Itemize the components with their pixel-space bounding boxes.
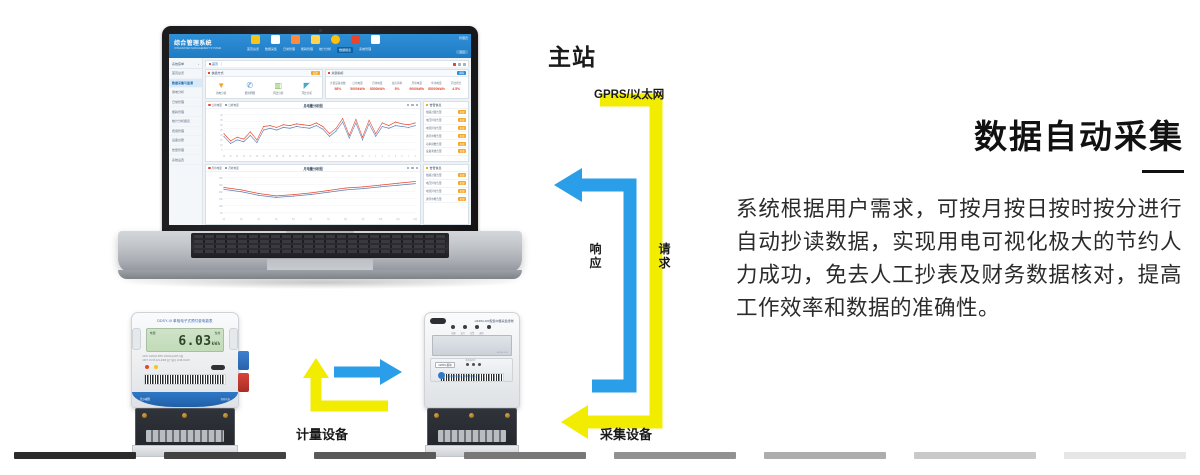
kpi-title-wrap: 关键指标	[328, 71, 344, 75]
title-underline	[1142, 170, 1184, 173]
trend-icon: ◤	[294, 81, 320, 90]
meter-lcd-value: 6.03	[178, 334, 211, 349]
svg-text:12月: 12月	[413, 217, 417, 222]
dot-label-2: 告警	[470, 331, 474, 335]
refresh-icon[interactable]	[411, 167, 414, 170]
svg-text:2月: 2月	[240, 217, 243, 222]
svg-text:25: 25	[220, 129, 223, 132]
svg-text:12: 12	[236, 156, 239, 158]
svg-text:16: 16	[263, 156, 266, 158]
svg-text:11: 11	[230, 156, 233, 158]
quick-item-0[interactable]: ▼ 用电分析	[208, 81, 234, 95]
svg-text:20: 20	[220, 134, 223, 137]
app-sidebar[interactable]: 系统菜单 ‹ 首页总览 数据采集与监测 用电分析 日常管理 能耗管理 统计分析报…	[169, 58, 203, 225]
svg-text:30: 30	[220, 124, 223, 127]
terminal-screws	[434, 413, 510, 418]
chart-daily-title: 总电量分析图	[303, 103, 322, 108]
meter-lcd-left-label: 电量	[150, 331, 156, 335]
meter-spec-text: 220V 10(60)A 50Hz 1600imp/kWh 1级 GB/T 17…	[142, 355, 227, 362]
laptop-screen: 综合管理系统 INTEGRATED MANAGEMENT SYSTEM 首页总览	[169, 34, 471, 225]
alarm-row-3-name: 通讯中断告警	[426, 134, 442, 138]
sidebar-item-2[interactable]: 用电分析	[169, 88, 202, 98]
master-station-label: 主站	[548, 38, 596, 72]
app-nav[interactable]: 首页总览 数据采集 日常管理 能耗管理 统计分析 数据报表 系统管理	[247, 47, 371, 53]
svg-text:250: 250	[219, 184, 223, 187]
nav-item-6[interactable]: 系统管理	[359, 47, 371, 53]
svg-text:31: 31	[361, 156, 364, 158]
bar-cell-1	[150, 452, 300, 459]
chart-daily-plot: 4035302520151051011121314151617181920212…	[206, 109, 420, 161]
terminal-title: HKDM-100型集中器采集终端	[475, 319, 514, 323]
meter-brand-right: 智能电表	[221, 397, 231, 401]
alarm2-row-1-badge[interactable]: 处理	[458, 181, 466, 185]
gprs-module-label: GPRS 模块	[435, 362, 454, 368]
svg-text:10: 10	[223, 156, 226, 158]
power-led-icon	[451, 325, 455, 329]
gradient-bar-strip	[0, 452, 1200, 459]
svg-text:17: 17	[269, 156, 272, 158]
tab-home-label: 首页	[212, 62, 218, 66]
text-column: 数据自动采集 系统根据用户需求，可按月按日按时按分进行自动抄读数据，实现用电可视…	[736, 118, 1184, 325]
svg-text:200: 200	[219, 191, 223, 194]
collect-device-label: 采集设备	[600, 424, 652, 443]
kpi-badge[interactable]: 详情	[457, 71, 466, 75]
svg-text:25: 25	[322, 156, 325, 158]
collection-terminal-device: HKDM-100型集中器采集终端 电源 运行 告警 通讯 HKDM-100 GP…	[416, 312, 528, 457]
alarm2-row-1-name: 电压异常告警	[426, 181, 442, 185]
legend-item-1: 月峰电量	[225, 166, 239, 170]
meter-indicator-leds	[145, 365, 158, 369]
kpi-item-6: 同比增长 4.5%	[446, 81, 466, 91]
response-arrow-path	[580, 185, 630, 386]
kpi-items: 计量设备总数 98% 日用电量 5000kWh 月用电量	[326, 77, 468, 95]
svg-text:15: 15	[220, 139, 223, 142]
svg-text:11月: 11月	[396, 217, 400, 222]
kpi-item-4: 月用电量 9000kWh	[407, 81, 427, 91]
sidebar-item-1[interactable]: 数据采集与监测	[169, 79, 202, 89]
meter-spec-line-2: GB/T 17215.321-2008 出厂编号 2018-00125	[142, 359, 227, 362]
svg-text:50: 50	[220, 212, 223, 215]
svg-text:3月: 3月	[257, 217, 260, 222]
kpi-item-0-value: 98%	[328, 87, 348, 91]
chart-monthly-tools[interactable]	[407, 167, 419, 170]
svg-text:30: 30	[355, 156, 358, 158]
request-arrow-head	[561, 405, 588, 439]
chart-daily-header: 日用电量 日峰电量 总电量分析图	[206, 102, 420, 109]
alarm2-row-0-badge[interactable]: 处理	[458, 173, 466, 177]
svg-text:35: 35	[220, 119, 223, 122]
kpi-item-5-label: 年用电量	[427, 81, 447, 85]
bar-cell-0	[0, 452, 150, 459]
quick-item-1-label: 费用明细	[237, 91, 263, 95]
svg-text:7月: 7月	[327, 217, 330, 222]
nav-item-2[interactable]: 日常管理	[283, 47, 295, 53]
sidebar-item-0[interactable]: 首页总览	[169, 69, 202, 79]
sidebar-item-6[interactable]: 费用管理	[169, 127, 202, 137]
dot-label-0: 电源	[451, 331, 455, 335]
terminal-status-labels: 电源 运行 告警 通讯	[451, 331, 511, 335]
meter-terminal-screws	[142, 413, 229, 418]
meter-device-label: 计量设备	[296, 424, 348, 443]
alarm-row[interactable]: 通讯中断告警 处理	[424, 132, 468, 140]
alarm-row[interactable]: 线路过载告警 处理	[424, 172, 468, 180]
kpi-item-3: 总负荷率 5%	[387, 81, 407, 91]
alarm-row[interactable]: 设备离线告警 处理	[424, 148, 468, 156]
alarm-list-title-2: 告警信息	[430, 166, 442, 170]
terminal-module-panel: GPRS 模块 状态指示灯 长沙顺畅能源产业技术有限公司	[430, 358, 513, 382]
kpi-item-4-value: 9000kWh	[407, 87, 427, 91]
svg-text:4月: 4月	[275, 217, 278, 222]
legend-item-0: 月用电量	[208, 166, 222, 170]
kpi-item-2: 月用电量 8500kWh	[367, 81, 387, 91]
alarm-row[interactable]: 电压异常告警 处理	[424, 180, 468, 188]
bulb-icon[interactable]	[251, 35, 260, 44]
calendar-icon[interactable]	[291, 35, 300, 44]
kpi-item-5: 年用电量 85000kWh	[427, 81, 447, 91]
svg-text:9月: 9月	[362, 217, 365, 222]
terminal-contacts	[438, 430, 506, 442]
kpi-card: 关键指标 详情 计量设备总数 98%	[325, 69, 469, 99]
kpi-title: 关键指标	[332, 71, 344, 75]
export-icon[interactable]	[407, 104, 410, 107]
svg-text:100: 100	[219, 205, 223, 208]
svg-text:10月: 10月	[379, 217, 383, 222]
more-icon[interactable]	[463, 63, 466, 66]
alarm-row[interactable]: 线路过载告警 处理	[424, 109, 468, 117]
clock-icon[interactable]	[331, 35, 340, 44]
meter-terminal-block	[135, 408, 236, 449]
kpi-item-0-label: 计量设备总数	[328, 81, 348, 85]
alarm-row-4-name: 功率因数告警	[426, 142, 442, 146]
meter-lcd-display: 电量 当前 6.03kWh	[146, 328, 225, 352]
alarm-row[interactable]: 电压异常告警 处理	[424, 117, 468, 125]
gprs-dots-label: 状态指示灯	[466, 359, 476, 362]
chart-daily-tools[interactable]	[407, 104, 419, 107]
chart-row-daily: 日用电量 日峰电量 总电量分析图	[205, 101, 469, 162]
brand-logo-icon	[438, 372, 445, 379]
svg-text:24: 24	[315, 156, 318, 158]
terminal-wiring-block	[427, 408, 517, 449]
svg-text:7: 7	[408, 156, 410, 158]
kpi-item-1-label: 日用电量	[348, 81, 368, 85]
svg-text:5: 5	[221, 149, 223, 152]
warning-icon	[426, 167, 428, 169]
alarm-row-3-badge[interactable]: 处理	[458, 134, 466, 138]
chevron-left-icon[interactable]: ‹	[198, 62, 199, 66]
alarm-row-5-name: 设备离线告警	[426, 149, 442, 153]
kpi-item-2-label: 月用电量	[367, 81, 387, 85]
tab-bar[interactable]: 首页	[205, 60, 469, 67]
terminal-downlink-arrow-head	[380, 359, 402, 385]
app-content: 首页	[203, 58, 471, 225]
tab-dot-icon	[209, 63, 211, 65]
svg-text:27: 27	[335, 156, 338, 158]
svg-text:23: 23	[309, 156, 312, 158]
quick-access-items[interactable]: ▼ 用电分析 ✆ 费用明细 ▥ 同比分析	[206, 77, 322, 98]
chart-row-monthly: 月用电量 月峰电量 月电量分析图	[205, 164, 469, 225]
alarm2-row-2-badge[interactable]: 处理	[458, 189, 466, 193]
body-paragraph: 系统根据用户需求，可按月按日按时按分进行自动抄读数据，实现用电可视化极大的节约人…	[736, 193, 1184, 325]
kpi-item-4-label: 月用电量	[407, 81, 427, 85]
run-led-icon	[463, 325, 467, 329]
sidebar-item-5[interactable]: 统计分析报表	[169, 117, 202, 127]
page-title: 数据自动采集	[736, 118, 1184, 156]
list-icon[interactable]	[311, 35, 320, 44]
quick-item-2[interactable]: ▥ 同比分析	[265, 81, 291, 95]
gprs-status-dots	[466, 363, 481, 366]
refresh-icon[interactable]	[458, 63, 461, 66]
sidebar-header: 系统菜单 ‹	[169, 60, 202, 69]
legend-item-1-label: 日峰电量	[228, 103, 238, 107]
kpi-item-6-label: 同比增长	[446, 81, 466, 85]
quick-item-3[interactable]: ◤ 环比分析	[294, 81, 320, 95]
terminal-status-dots	[451, 325, 511, 329]
laptop-lid: 综合管理系统 INTEGRATED MANAGEMENT SYSTEM 首页总览	[162, 26, 478, 234]
legend-item-1: 日峰电量	[225, 103, 239, 107]
export-icon[interactable]	[407, 167, 410, 170]
svg-text:40: 40	[220, 114, 223, 117]
svg-text:300: 300	[219, 177, 223, 180]
svg-text:150: 150	[219, 198, 223, 201]
svg-text:26: 26	[329, 156, 332, 158]
dashboard-top-panels: 快捷方式 设置 ▼ 用电分析	[205, 69, 469, 99]
energy-meter-device: DDSY-III 单相电子式预付费电能表 电量 当前 6.03kWh 220V …	[122, 312, 248, 457]
svg-text:5月: 5月	[292, 217, 295, 222]
svg-text:28: 28	[342, 156, 345, 158]
svg-text:5: 5	[395, 156, 397, 158]
sidebar-item-3[interactable]: 日常管理	[169, 98, 202, 108]
alarm-row-1-badge[interactable]: 处理	[458, 118, 466, 122]
sidebar-item-4[interactable]: 能耗管理	[169, 107, 202, 117]
quick-item-3-label: 环比分析	[294, 91, 320, 95]
alarm-list-card-2: 告警信息 线路过载告警 处理 电压异常告警 处理	[423, 164, 469, 225]
meter-uplink-arrow-path	[316, 376, 388, 406]
app-logo-subtext: INTEGRATED MANAGEMENT SYSTEM	[174, 48, 221, 51]
terminal-lcd-mark: HKDM-100	[497, 352, 508, 354]
alarm-list-header-2: 告警信息	[424, 165, 468, 172]
meter-mount-right	[229, 328, 239, 350]
nav-item-4[interactable]: 统计分析	[319, 47, 331, 53]
laptop-front-edge	[118, 270, 522, 279]
response-label: 响应	[589, 242, 602, 270]
chart-icon: ▥	[265, 81, 291, 90]
alarm-row-1-name: 电压异常告警	[426, 118, 442, 122]
laptop-illustration: 综合管理系统 INTEGRATED MANAGEMENT SYSTEM 首页总览	[118, 26, 522, 298]
phone-icon: ✆	[237, 81, 263, 90]
bulb-icon: ▼	[208, 81, 234, 90]
bar-cell-6	[900, 452, 1050, 459]
kpi-item-1-value: 5000kWh	[348, 87, 368, 91]
meter-mount-left	[132, 328, 142, 350]
svg-text:1: 1	[369, 156, 371, 158]
chart-monthly-plot: 300250200150100501月2月3月4月5月6月7月8月9月10月11…	[206, 172, 420, 224]
meter-uplink-arrow-head	[303, 358, 329, 378]
square-marker-icon	[208, 72, 210, 74]
terminal-brand: 长沙顺畅能源产业技术有限公司	[438, 372, 506, 379]
chart-card-monthly: 月用电量 月峰电量 月电量分析图	[205, 164, 421, 225]
nav-item-5[interactable]: 数据报表	[337, 47, 353, 53]
grid-view-icon[interactable]	[453, 63, 456, 66]
settings-icon[interactable]	[371, 35, 380, 44]
device-link-arrows	[296, 358, 404, 420]
alarm2-row-3-badge[interactable]: 处理	[458, 197, 466, 201]
legend-item-0-label: 日用电量	[212, 103, 222, 107]
legend-item-0-label: 月用电量	[212, 166, 222, 170]
bar-cell-2	[300, 452, 450, 459]
app-user-area[interactable]: 管理员 退出	[456, 36, 468, 58]
svg-text:19: 19	[282, 156, 285, 158]
response-arrow-head	[554, 168, 582, 202]
legend-item-1-label: 月峰电量	[228, 166, 238, 170]
app-header: 综合管理系统 INTEGRATED MANAGEMENT SYSTEM 首页总览	[169, 34, 471, 58]
bar-cell-3	[450, 452, 600, 459]
svg-text:20: 20	[289, 156, 292, 158]
svg-text:1月: 1月	[223, 217, 226, 222]
meter-button[interactable]	[211, 365, 225, 370]
alarm2-row-0-name: 线路过载告警	[426, 173, 442, 177]
tab-tools[interactable]	[453, 63, 466, 66]
chart-monthly-legend: 月用电量 月峰电量	[208, 166, 239, 170]
infographic-canvas: 综合管理系统 INTEGRATED MANAGEMENT SYSTEM 首页总览	[0, 0, 1200, 475]
kpi-header: 关键指标 详情	[326, 70, 468, 77]
alarm-list-header: 告警信息	[424, 102, 468, 109]
meter-caption: DDSY-III 单相电子式预付费电能表	[140, 318, 229, 326]
alarm-row[interactable]: 电流异常告警 处理	[424, 188, 468, 196]
chart-card-daily: 日用电量 日峰电量 总电量分析图	[205, 101, 421, 162]
logout-button[interactable]: 退出	[456, 50, 468, 54]
alarm2-row-2-name: 电流异常告警	[426, 189, 442, 193]
meter-terminal-contacts	[146, 430, 225, 442]
svg-text:8月: 8月	[344, 217, 347, 222]
alarm-list-card: 告警信息 线路过载告警 处理 电压异常告警 处理	[423, 101, 469, 162]
meter-lcd-unit: kWh	[212, 341, 221, 346]
chart-monthly-header: 月用电量 月峰电量 月电量分析图	[206, 165, 420, 172]
chart-monthly-title: 月电量分析图	[303, 166, 322, 171]
dot-label-1: 运行	[461, 331, 465, 335]
svg-text:15: 15	[256, 156, 259, 158]
app-logo: 综合管理系统 INTEGRATED MANAGEMENT SYSTEM	[169, 41, 221, 50]
bar-cell-7	[1050, 452, 1200, 459]
tab-home[interactable]: 首页	[206, 62, 222, 66]
fullscreen-icon[interactable]	[416, 104, 419, 107]
alarm2-row-3-name: 通讯中断告警	[426, 197, 442, 201]
terminal-body: HKDM-100型集中器采集终端 电源 运行 告警 通讯 HKDM-100 GP…	[424, 312, 520, 408]
alarm-list-title: 告警信息	[430, 103, 442, 107]
dot-label-3: 通讯	[479, 331, 483, 335]
fullscreen-icon[interactable]	[416, 167, 419, 170]
sidebar-item-8[interactable]: 告警管理	[169, 146, 202, 156]
nav-item-1[interactable]: 数据采集	[265, 47, 277, 53]
quick-item-2-label: 同比分析	[265, 91, 291, 95]
bar-cell-4	[600, 452, 750, 459]
pulse-led-icon	[145, 365, 149, 369]
nav-item-0[interactable]: 首页总览	[247, 47, 259, 53]
webcam-icon	[319, 29, 322, 32]
alarm-row[interactable]: 通讯中断告警 处理	[424, 195, 468, 203]
svg-text:13: 13	[243, 156, 246, 158]
warning-icon	[426, 104, 428, 106]
quick-access-badge[interactable]: 设置	[311, 71, 320, 75]
app-toolbar-icons[interactable]	[251, 35, 380, 44]
quick-access-title: 快捷方式	[212, 71, 224, 75]
request-label: 请求	[658, 242, 671, 270]
legend-item-0: 日用电量	[208, 103, 222, 107]
quick-access-card: 快捷方式 设置 ▼ 用电分析	[205, 69, 323, 99]
comm-led-icon	[487, 325, 491, 329]
sidebar-header-label: 系统菜单	[172, 62, 184, 66]
bar-cell-5	[750, 452, 900, 459]
svg-text:8: 8	[415, 156, 417, 158]
sidebar-item-9[interactable]: 系统设置	[169, 155, 202, 165]
svg-text:14: 14	[249, 156, 252, 158]
svg-text:10: 10	[220, 144, 223, 147]
mail-icon[interactable]	[351, 35, 360, 44]
alarm-led-icon	[475, 325, 479, 329]
kpi-item-3-label: 总负荷率	[387, 81, 407, 85]
meter-barcode	[144, 374, 227, 385]
alarm-row-0-name: 线路过载告警	[426, 110, 442, 114]
kpi-item-3-value: 5%	[387, 87, 407, 91]
network-label: GPRS/以太网	[594, 86, 664, 102]
kpi-item-6-value: 4.5%	[446, 87, 466, 91]
svg-text:29: 29	[348, 156, 351, 158]
svg-text:2: 2	[375, 156, 377, 158]
meter-body: DDSY-III 单相电子式预付费电能表 电量 当前 6.03kWh 220V …	[131, 312, 239, 408]
alarm-row-0-badge[interactable]: 处理	[458, 110, 466, 114]
terminal-brand-text: 长沙顺畅能源产业技术有限公司	[447, 374, 478, 378]
meter-brand-bar: 长沙威胜 智能电表	[132, 392, 238, 407]
svg-text:6月: 6月	[310, 217, 313, 222]
quick-access-title-wrap: 快捷方式	[208, 71, 224, 75]
kpi-item-5-value: 85000kWh	[427, 87, 447, 91]
svg-text:21: 21	[296, 156, 299, 158]
laptop-keyboard	[191, 233, 449, 258]
square-marker-icon	[328, 72, 330, 74]
quick-access-header: 快捷方式 设置	[206, 70, 322, 77]
terminal-ir-port-icon	[430, 318, 446, 324]
alarm-row-4-badge[interactable]: 处理	[458, 142, 466, 146]
svg-text:18: 18	[276, 156, 279, 158]
terminal-lcd-display: HKDM-100	[432, 335, 511, 356]
meter-brand-left: 长沙威胜	[140, 397, 150, 401]
alarm-row[interactable]: 电流异常告警 处理	[424, 125, 468, 133]
edit-icon[interactable]	[271, 35, 280, 44]
sidebar-item-7[interactable]: 设备台账	[169, 136, 202, 146]
alarm-row-2-name: 电流异常告警	[426, 126, 442, 130]
alarm-led-icon	[154, 365, 158, 369]
svg-text:4: 4	[388, 156, 390, 158]
kpi-item-0: 计量设备总数 98%	[328, 81, 348, 91]
refresh-icon[interactable]	[411, 104, 414, 107]
svg-text:22: 22	[302, 156, 305, 158]
user-name: 管理员	[456, 36, 468, 40]
quick-item-0-label: 用电分析	[208, 91, 234, 95]
alarm-row-2-badge[interactable]: 处理	[458, 126, 466, 130]
alarm-row[interactable]: 功率因数告警 处理	[424, 140, 468, 148]
alarm-row-5-badge[interactable]: 处理	[458, 149, 466, 153]
svg-text:3: 3	[382, 156, 384, 158]
meter-side-button-red[interactable]	[238, 373, 249, 392]
kpi-item-1: 日用电量 5000kWh	[348, 81, 368, 91]
app-body: 系统菜单 ‹ 首页总览 数据采集与监测 用电分析 日常管理 能耗管理 统计分析报…	[169, 58, 471, 225]
kpi-item-2-value: 8500kWh	[367, 87, 387, 91]
quick-item-1[interactable]: ✆ 费用明细	[237, 81, 263, 95]
nav-item-3[interactable]: 能耗管理	[301, 47, 313, 53]
meter-side-button-blue[interactable]	[238, 351, 249, 370]
svg-text:6: 6	[402, 156, 404, 158]
chart-daily-legend: 日用电量 日峰电量	[208, 103, 239, 107]
meter-lcd-value-row: 6.03kWh	[150, 335, 221, 350]
